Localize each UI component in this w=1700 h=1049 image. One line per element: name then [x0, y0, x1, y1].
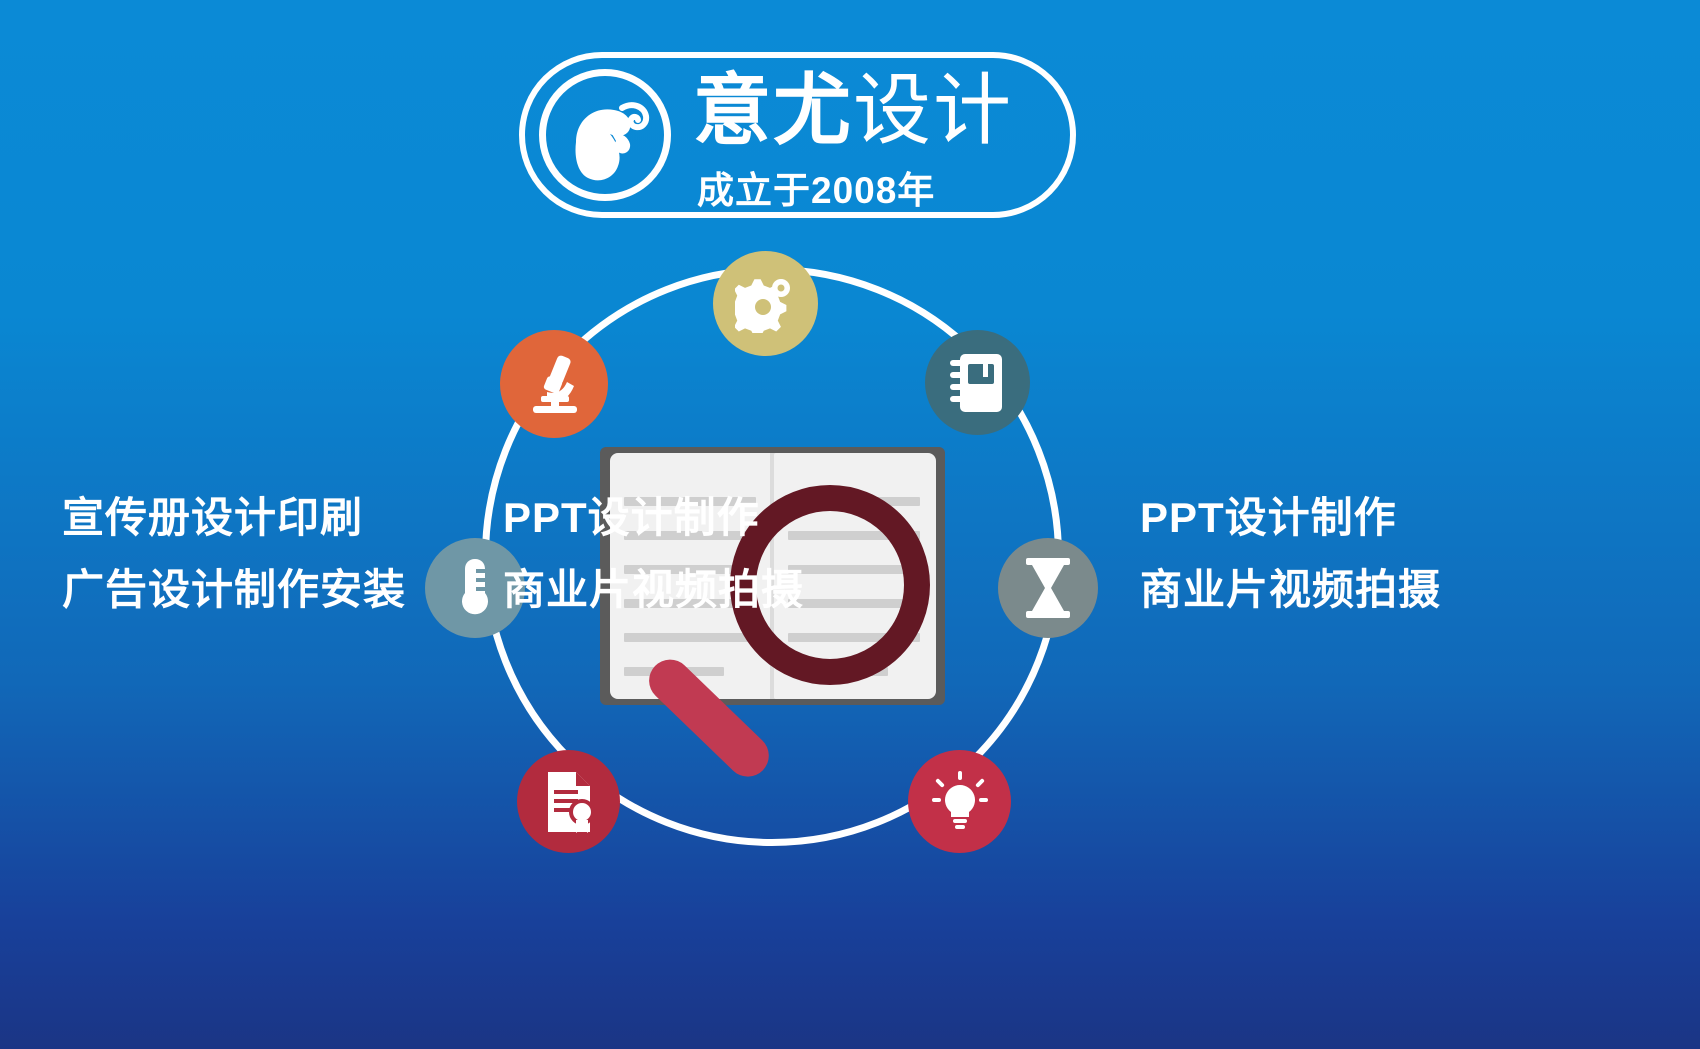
gear-icon: [735, 275, 797, 333]
logo-name-bold: 意尤: [693, 66, 853, 154]
ring-node-gear[interactable]: [713, 251, 818, 356]
service-text-left: 宣传册设计印刷 广告设计制作安装: [62, 482, 406, 626]
logo-wordmark: 意尤设计: [693, 62, 1013, 158]
microscope-icon: [523, 352, 585, 416]
service-left-line2: 广告设计制作安装: [62, 554, 406, 626]
service-right-line1: PPT设计制作: [1140, 482, 1441, 554]
logo-tagline: 成立于2008年: [697, 160, 935, 214]
service-right-line2: 商业片视频拍摄: [1140, 554, 1441, 626]
pelican-logo-icon: [539, 69, 671, 201]
thermometer-icon: [458, 557, 492, 619]
hourglass-icon: [1022, 557, 1074, 619]
service-center-line1: PPT设计制作: [503, 482, 804, 554]
service-left-line1: 宣传册设计印刷: [62, 482, 406, 554]
ring-node-microscope[interactable]: [500, 330, 608, 438]
service-text-right: PPT设计制作 商业片视频拍摄: [1140, 482, 1441, 626]
ring-node-hourglass[interactable]: [998, 538, 1098, 638]
ring-node-certificate[interactable]: [517, 750, 620, 853]
brand-logo: 意尤设计 成立于2008年: [519, 52, 1076, 218]
certificate-icon: [542, 770, 596, 834]
slide-canvas: 意尤设计 成立于2008年: [0, 0, 1700, 1049]
ring-node-notebook[interactable]: [925, 330, 1030, 435]
logo-name-thin: 设计: [853, 66, 1013, 154]
service-text-center: PPT设计制作 商业片视频拍摄: [503, 482, 804, 626]
notebook-icon: [950, 352, 1006, 414]
service-center-line2: 商业片视频拍摄: [503, 554, 804, 626]
